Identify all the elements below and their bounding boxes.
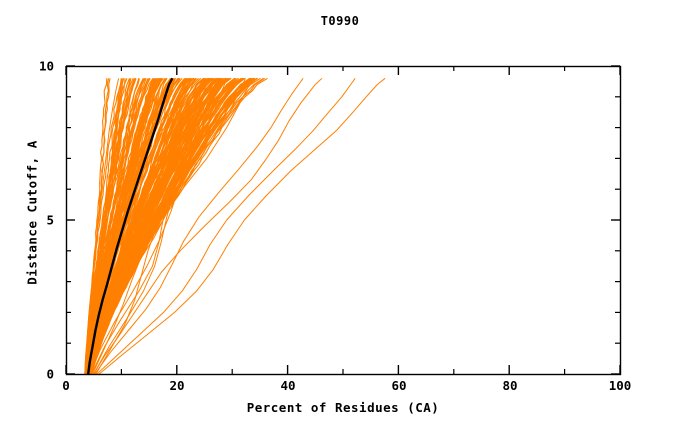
x-tick-label-100: 100 — [609, 378, 632, 393]
y-tick-label-0: 0 — [28, 367, 54, 382]
page-title: T0990 — [0, 14, 680, 28]
x-tick-label-60: 60 — [391, 378, 406, 393]
x-tick-label-40: 40 — [280, 378, 295, 393]
y-tick-label-10: 10 — [28, 59, 54, 74]
plot-figure: T0990 Distance Cutoff, A Percent of Resi… — [0, 0, 680, 440]
x-axis-label: Percent of Residues (CA) — [66, 400, 620, 415]
x-tick-label-0: 0 — [62, 378, 70, 393]
y-tick-label-5: 5 — [28, 213, 54, 228]
plot-canvas — [0, 0, 680, 440]
x-tick-label-80: 80 — [502, 378, 517, 393]
curve-series-layer — [85, 78, 385, 374]
x-tick-label-20: 20 — [169, 378, 184, 393]
